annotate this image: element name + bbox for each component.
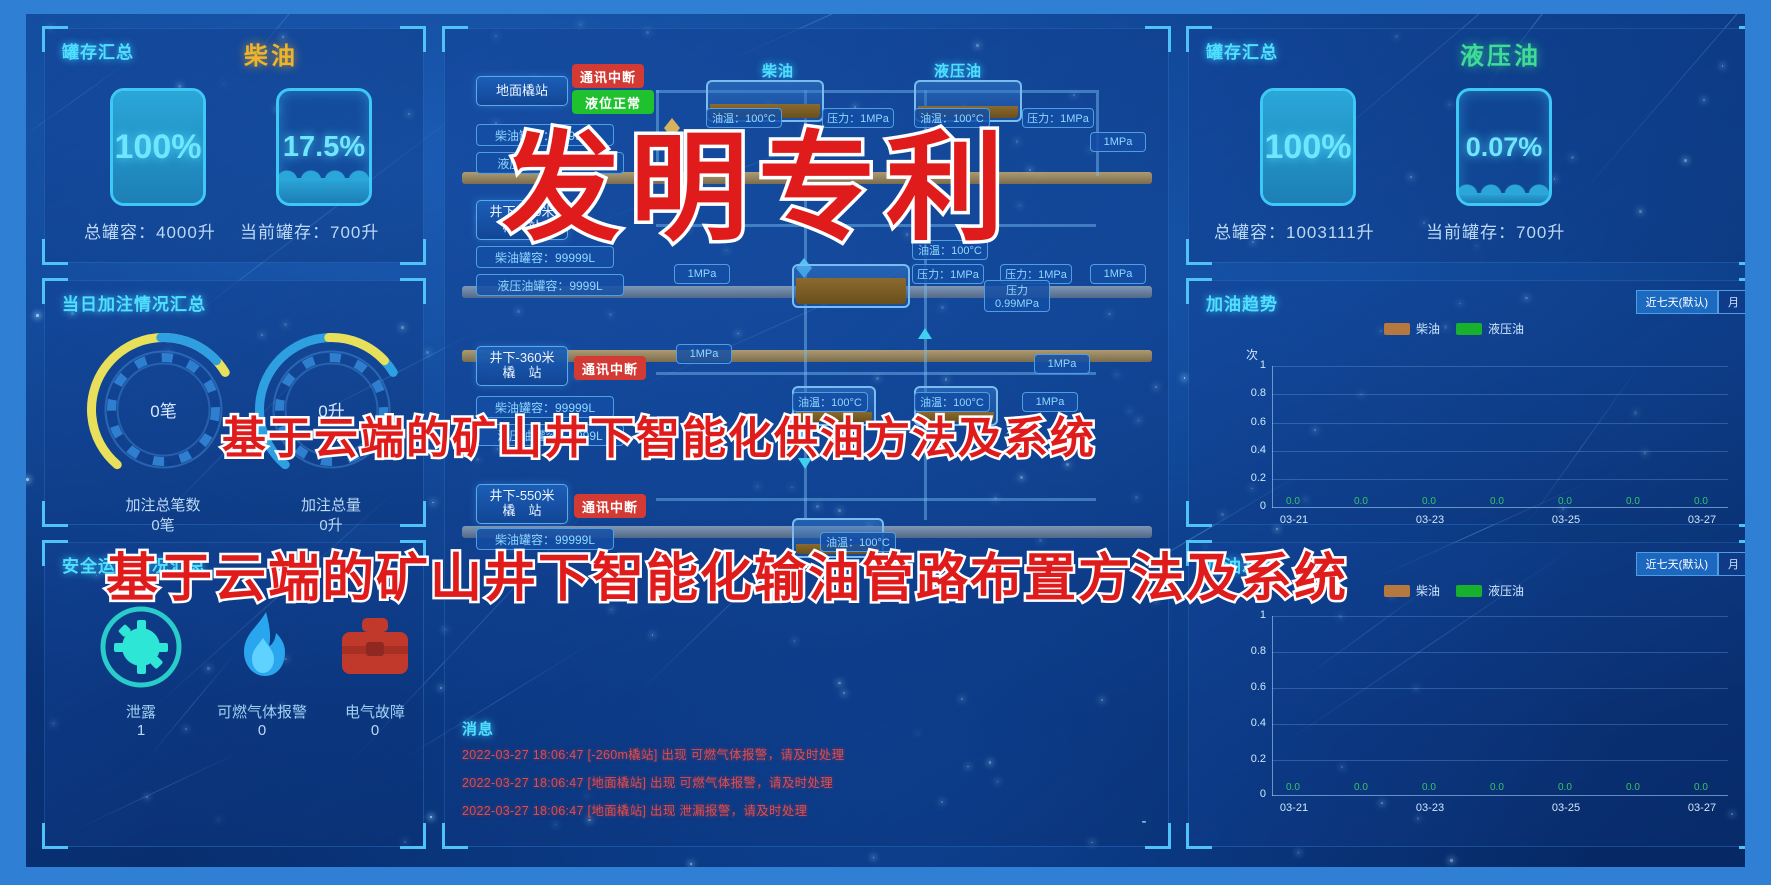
caption-line-1: 加注总笔数 — [98, 496, 228, 516]
legend-swatch-diesel — [1384, 585, 1410, 597]
gauge-refuel-count-caption: 加注总笔数 0笔 — [98, 496, 228, 537]
station-box-minus360[interactable]: 井下-360米 橇 站 — [476, 346, 568, 386]
safety-item-label: 可燃气体报警 — [192, 701, 332, 722]
x-tick-label: 03-21 — [1268, 802, 1320, 814]
point-value-label: 0.0 — [1490, 496, 1504, 507]
y-tick-label: 0 — [1234, 500, 1266, 512]
corner-decoration — [1739, 239, 1745, 265]
panel-left-tank-summary: 罐存汇总 柴油 100% 17.5% 总罐容：4000升 当前罐存：700升 — [44, 28, 424, 263]
flow-arrow-up-icon — [918, 328, 932, 339]
point-value-label: 0.0 — [1490, 782, 1504, 793]
pipe-segment — [656, 498, 1096, 501]
tank-total-capacity-label: 总罐容：1003111升 — [1214, 218, 1375, 243]
diagram-label-hydraulic: 液压油 — [934, 60, 982, 81]
product-label-diesel: 柴油 — [244, 36, 298, 71]
corner-decoration — [1186, 823, 1212, 849]
count-range-buttons[interactable]: 近七天(默认) 月 — [1636, 552, 1745, 576]
y-tick-label: 0.8 — [1234, 645, 1266, 657]
zoom-out-button[interactable]: - — [1133, 815, 1155, 831]
station-tag-comm-interrupt: 通讯中断 — [572, 64, 644, 88]
point-value-label: 0.0 — [1694, 782, 1708, 793]
point-value-label: 0.0 — [1558, 496, 1572, 507]
legend-item-hydraulic[interactable]: 液压油 — [1456, 320, 1524, 337]
caption-line-2: 0笔 — [98, 516, 228, 536]
grid-line — [1272, 451, 1728, 452]
y-axis-line — [1272, 616, 1273, 796]
safety-item-value: 0 — [320, 722, 430, 739]
y-tick-label: 0.6 — [1234, 416, 1266, 428]
corner-decoration — [400, 239, 426, 265]
legend-swatch-diesel — [1384, 323, 1410, 335]
x-tick-label: 03-27 — [1676, 514, 1728, 526]
grid-line — [1272, 423, 1728, 424]
messages-title: 消息 — [462, 718, 494, 739]
y-tick-label: 0.2 — [1234, 753, 1266, 765]
corner-decoration — [1186, 501, 1212, 527]
safety-item-value: 1 — [86, 722, 196, 739]
range-button-month[interactable]: 月 — [1718, 290, 1745, 314]
y-tick-label: 0.4 — [1234, 717, 1266, 729]
panel-title: 罐存汇总 — [62, 38, 134, 63]
point-value-label: 0.0 — [1286, 496, 1300, 507]
outer-frame: 罐存汇总 柴油 100% 17.5% 总罐容：4000升 当前罐存：700升 当… — [0, 0, 1771, 885]
pipe-segment — [656, 372, 1096, 375]
tank-current-stock-label: 当前罐存：700升 — [1426, 218, 1565, 243]
safety-item-label: 电气故障 — [320, 701, 430, 722]
y-axis-line — [1272, 366, 1273, 508]
y-tick-label: 0 — [1234, 788, 1266, 800]
x-tick-label: 03-23 — [1404, 802, 1456, 814]
trend-chart-legend: 柴油 液压油 — [1384, 320, 1524, 337]
x-tick-label: 03-25 — [1540, 514, 1592, 526]
legend-label-hydraulic: 液压油 — [1488, 582, 1524, 599]
message-item: 2022-03-27 18:06:47 [地面橇站] 出现 可燃气体报警，请及时… — [462, 772, 1122, 791]
panel-title: 罐存汇总 — [1206, 38, 1278, 63]
corner-decoration — [400, 278, 426, 304]
corner-decoration — [400, 26, 426, 52]
legend-item-diesel[interactable]: 柴油 — [1384, 582, 1440, 599]
grid-line — [1272, 724, 1728, 725]
meter-chip-pressure-099: 压力 0.99MPa — [984, 280, 1050, 312]
legend-label-hydraulic: 液压油 — [1488, 320, 1524, 337]
meter-chip-pressure: 1MPa — [1034, 354, 1090, 374]
legend-swatch-hydraulic — [1456, 585, 1482, 597]
tank-icon-mid — [792, 264, 910, 308]
point-value-label: 0.0 — [1694, 496, 1708, 507]
y-tick-label: 1 — [1234, 359, 1266, 371]
watermark-patent-badge: 发明专利 — [502, 92, 1014, 263]
station-box-minus550[interactable]: 井下-550米 橇 站 — [476, 484, 568, 524]
panel-refuel-trend-chart: 加油趋势 近七天(默认) 月 柴油 液压油 次 1 0.8 — [1188, 280, 1745, 525]
caption-line-2: 0升 — [266, 516, 396, 536]
legend-item-hydraulic[interactable]: 液压油 — [1456, 582, 1524, 599]
tank-current-percent: 0.07% — [1459, 91, 1549, 203]
tank-total-gauge: 100% — [1260, 88, 1356, 206]
y-tick-label: 0.8 — [1234, 387, 1266, 399]
watermark-patent-title-2: 基于云端的矿山井下智能化输油管路布置方法及系统 — [106, 536, 1348, 611]
tank-current-stock-label: 当前罐存：700升 — [240, 218, 379, 243]
corner-decoration — [42, 823, 68, 849]
tank-total-percent: 100% — [113, 91, 203, 203]
point-value-label: 0.0 — [1422, 496, 1436, 507]
meter-chip-pressure: 压力：1MPa — [1022, 108, 1094, 128]
meter-chip-pressure: 1MPa — [1090, 132, 1146, 152]
safety-item-leak: 泄露 1 — [86, 604, 196, 739]
corner-decoration — [400, 823, 426, 849]
station-tag-comm-interrupt: 通讯中断 — [574, 356, 646, 380]
x-tick-label: 03-21 — [1268, 514, 1320, 526]
y-tick-label: 0.4 — [1234, 444, 1266, 456]
toolbox-icon — [332, 604, 418, 690]
safety-item-electrical-fault: 电气故障 0 — [320, 604, 430, 739]
safety-item-label: 泄露 — [86, 701, 196, 722]
grid-line — [1272, 688, 1728, 689]
corner-decoration — [1145, 26, 1171, 52]
meter-chip-pressure: 1MPa — [674, 264, 730, 284]
watermark-patent-title-1: 基于云端的矿山井下智能化供油方法及系统 — [222, 402, 1096, 466]
corner-decoration — [42, 501, 68, 527]
y-tick-label: 0.6 — [1234, 681, 1266, 693]
x-tick-label: 03-23 — [1404, 514, 1456, 526]
point-value-label: 0.0 — [1626, 782, 1640, 793]
gauge-refuel-volume-caption: 加注总量 0升 — [266, 496, 396, 537]
tank-current-percent: 17.5% — [279, 91, 369, 203]
corner-decoration — [1186, 239, 1212, 265]
tank-current-gauge: 0.07% — [1456, 88, 1552, 206]
chart-title: 加油趋势 — [1206, 290, 1278, 315]
message-item: 2022-03-27 18:06:47 [地面橇站] 出现 泄漏报警，请及时处理 — [462, 800, 1122, 819]
station-chip-hydraulic-capacity: 液压油罐容：9999L — [476, 274, 624, 296]
meter-chip-pressure: 压力：1MPa — [912, 264, 984, 284]
caption-line-1: 加注总量 — [266, 496, 396, 516]
dashboard-screen: 罐存汇总 柴油 100% 17.5% 总罐容：4000升 当前罐存：700升 当… — [26, 14, 1745, 867]
range-button-month[interactable]: 月 — [1718, 552, 1745, 576]
legend-label-diesel: 柴油 — [1416, 320, 1440, 337]
flame-icon — [219, 604, 305, 690]
tank-oil-fill — [796, 278, 906, 304]
diagram-label-diesel: 柴油 — [762, 60, 794, 81]
grid-line — [1272, 616, 1728, 617]
panel-title: 当日加注情况汇总 — [62, 290, 206, 315]
point-value-label: 0.0 — [1626, 496, 1640, 507]
point-value-label: 0.0 — [1558, 782, 1572, 793]
x-tick-label: 03-25 — [1540, 802, 1592, 814]
safety-item-gas-alarm: 可燃气体报警 0 — [192, 604, 332, 739]
grid-line — [1272, 652, 1728, 653]
point-value-label: 0.0 — [1354, 496, 1368, 507]
trend-plot-area: 1 0.8 0.6 0.4 0.2 0 0.0 0.0 0.0 0.0 0.0 … — [1250, 366, 1728, 508]
corner-decoration — [442, 26, 468, 52]
point-value-label: 0.0 — [1354, 782, 1368, 793]
tank-total-capacity-label: 总罐容：4000升 — [84, 218, 216, 243]
range-button-seven-days[interactable]: 近七天(默认) — [1636, 290, 1718, 314]
range-button-seven-days[interactable]: 近七天(默认) — [1636, 552, 1718, 576]
grid-line — [1272, 479, 1728, 480]
grid-line — [1272, 760, 1728, 761]
legend-swatch-hydraulic — [1456, 323, 1482, 335]
tank-current-gauge: 17.5% — [276, 88, 372, 206]
gear-leak-icon — [98, 604, 184, 690]
x-axis-line — [1272, 795, 1728, 796]
tank-total-percent: 100% — [1263, 91, 1353, 203]
message-list[interactable]: 2022-03-27 18:06:47 [-260m橇站] 出现 可燃气体报警，… — [462, 744, 1122, 819]
grid-line — [1272, 366, 1728, 367]
y-tick-label: 0.2 — [1234, 472, 1266, 484]
station-tag-comm-interrupt: 通讯中断 — [574, 494, 646, 518]
safety-item-value: 0 — [192, 722, 332, 739]
meter-chip-pressure: 1MPa — [1090, 264, 1146, 284]
legend-label-diesel: 柴油 — [1416, 582, 1440, 599]
x-axis-line — [1272, 507, 1728, 508]
legend-item-diesel[interactable]: 柴油 — [1384, 320, 1440, 337]
corner-decoration — [1739, 501, 1745, 527]
meter-chip-pressure: 1MPa — [676, 344, 732, 364]
grid-line — [1272, 394, 1728, 395]
trend-range-buttons[interactable]: 近七天(默认) 月 — [1636, 290, 1745, 314]
tank-total-gauge: 100% — [110, 88, 206, 206]
point-value-label: 0.0 — [1422, 782, 1436, 793]
product-label-hydraulic: 液压油 — [1460, 36, 1541, 71]
count-plot-area: 1 0.8 0.6 0.4 0.2 0 0.0 0.0 0.0 0.0 0.0 … — [1250, 616, 1728, 796]
message-item: 2022-03-27 18:06:47 [-260m橇站] 出现 可燃气体报警，… — [462, 744, 1122, 763]
corner-decoration — [1739, 823, 1745, 849]
corner-decoration — [400, 501, 426, 527]
panel-right-tank-summary: 罐存汇总 液压油 100% 0.07% 总罐容：1003111升 当前罐存：70… — [1188, 28, 1745, 263]
count-chart-legend: 柴油 液压油 — [1384, 582, 1524, 599]
corner-decoration — [42, 239, 68, 265]
corner-decoration — [442, 823, 468, 849]
point-value-label: 0.0 — [1286, 782, 1300, 793]
x-tick-label: 03-27 — [1676, 802, 1728, 814]
corner-decoration — [1739, 26, 1745, 52]
